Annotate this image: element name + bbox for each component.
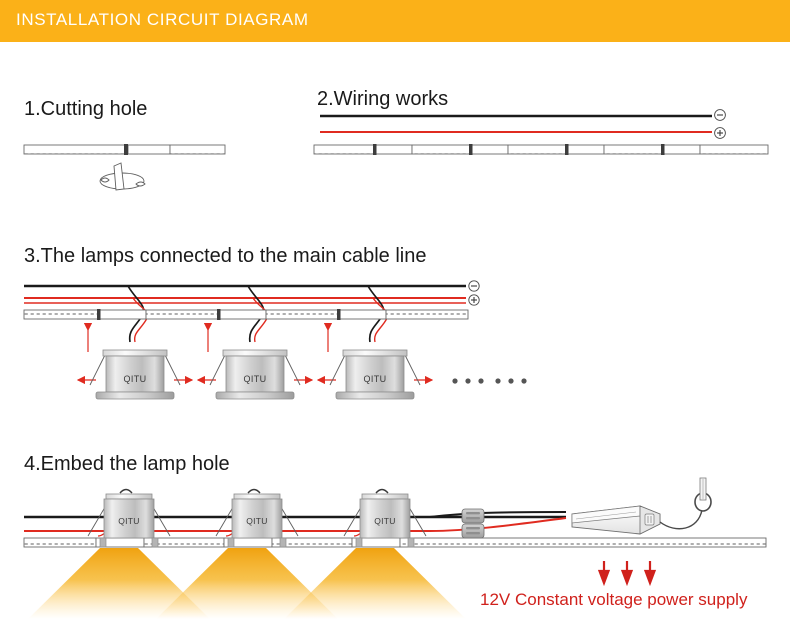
negative-terminal-step3 bbox=[469, 281, 479, 291]
step-3-illustration: QITU QITU bbox=[24, 281, 527, 399]
lamp-unit-step4-1: QITU bbox=[88, 490, 170, 548]
ceiling-strip-step4 bbox=[24, 538, 766, 547]
power-supply-caption: 12V Constant voltage power supply bbox=[480, 590, 747, 610]
positive-terminal-step3 bbox=[469, 295, 479, 305]
step-1-illustration bbox=[24, 144, 225, 190]
lamp-brand-label: QITU bbox=[118, 516, 140, 526]
power-supply-arrows bbox=[600, 561, 655, 583]
step-2-illustration bbox=[314, 110, 768, 155]
lamp-brand-label: QITU bbox=[243, 374, 266, 384]
lamp-brand-label: QITU bbox=[123, 374, 146, 384]
ceiling-strip-step1 bbox=[24, 144, 225, 155]
continuation-dots bbox=[452, 378, 526, 383]
mains-plug bbox=[660, 478, 711, 529]
lamp-brand-label: QITU bbox=[374, 516, 396, 526]
led-driver-box bbox=[572, 506, 660, 534]
negative-terminal-step2 bbox=[715, 110, 726, 121]
wire-connector-positive bbox=[462, 524, 484, 538]
diagram-page: INSTALLATION CIRCUIT DIAGRAM 1.Cutting h… bbox=[0, 0, 790, 619]
hole-cutter-icon bbox=[100, 163, 145, 190]
diagram-canvas: QITU QITU bbox=[0, 0, 790, 619]
lamp-brand-label: QITU bbox=[363, 374, 386, 384]
lamp-brand-label: QITU bbox=[246, 516, 268, 526]
wire-connector-negative bbox=[462, 509, 484, 523]
positive-terminal-step2 bbox=[715, 128, 726, 139]
ceiling-strip-step3 bbox=[24, 309, 468, 320]
lamp-unit-step4-2: QITU bbox=[216, 490, 298, 548]
lamp-unit-step4-3: QITU bbox=[344, 490, 426, 548]
light-beams bbox=[28, 548, 466, 619]
ceiling-strip-step2 bbox=[314, 144, 768, 155]
